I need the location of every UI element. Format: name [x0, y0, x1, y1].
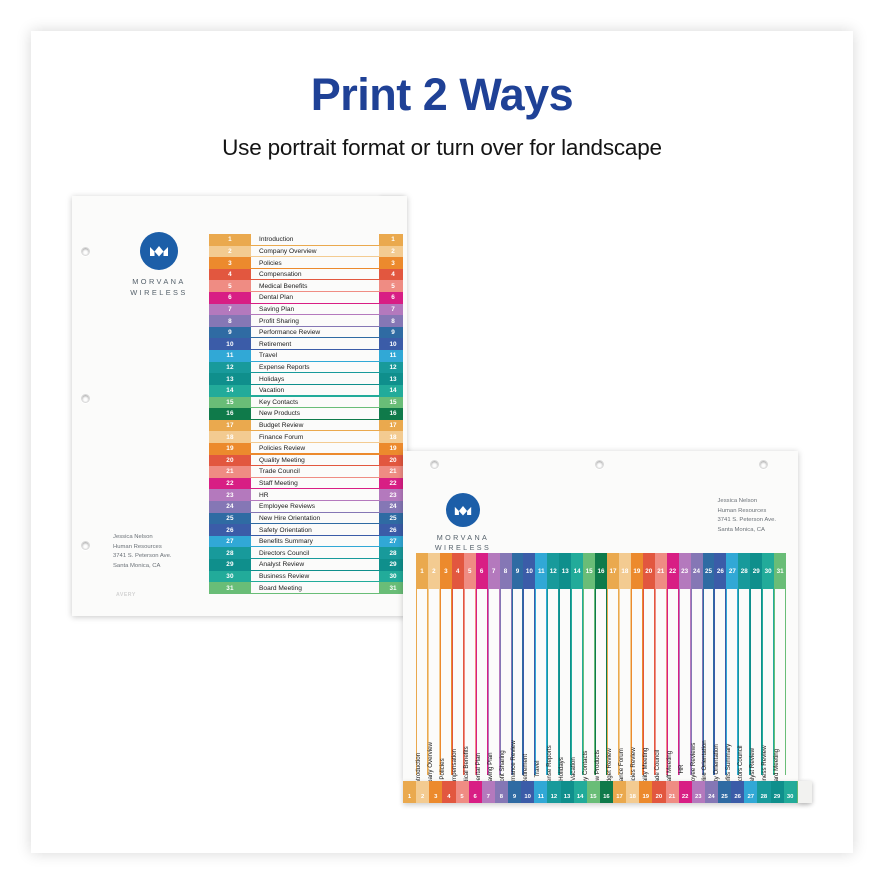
- table-row: 9Performance Review: [209, 327, 385, 339]
- row-label: Staff Meeting: [251, 478, 385, 490]
- portrait-tab: 23: [379, 489, 403, 501]
- column-body: Medical Benefits: [464, 589, 476, 775]
- column-number: 31: [774, 553, 786, 589]
- column-number: 12: [547, 553, 559, 589]
- column-number: 21: [655, 553, 667, 589]
- landscape-bottom-tab: 19: [639, 781, 652, 803]
- row-number: 13: [209, 373, 251, 385]
- landscape-tab-column: 29Analyst Review: [750, 553, 762, 775]
- column-number: 1: [416, 553, 428, 589]
- landscape-tab-column: 14Vacation: [571, 553, 583, 775]
- portrait-tab: 19: [379, 443, 403, 455]
- row-label: Quality Meeting: [251, 455, 385, 467]
- column-number: 9: [512, 553, 524, 589]
- landscape-bottom-tab: 11: [534, 781, 547, 803]
- row-number: 5: [209, 280, 251, 292]
- table-row: 17Budget Review: [209, 420, 385, 432]
- table-row: 20Quality Meeting: [209, 455, 385, 467]
- column-number: 7: [488, 553, 500, 589]
- row-number: 19: [209, 443, 251, 455]
- table-row: 6Dental Plan: [209, 292, 385, 304]
- row-label: Dental Plan: [251, 292, 385, 304]
- landscape-tab-column: 26Safety Orientation: [714, 553, 726, 775]
- row-number: 24: [209, 501, 251, 513]
- column-body: Performance Review: [512, 589, 524, 775]
- column-body: Key Contacts: [583, 589, 595, 775]
- table-row: 16New Products: [209, 408, 385, 420]
- landscape-bottom-tab: 23: [692, 781, 705, 803]
- landscape-tab-column: 5Medical Benefits: [464, 553, 476, 775]
- row-number: 25: [209, 513, 251, 525]
- portrait-tab: 26: [379, 524, 403, 536]
- column-number: 19: [631, 553, 643, 589]
- landscape-tab-column: 2Company Overview: [428, 553, 440, 775]
- portrait-tab: 11: [379, 350, 403, 362]
- brand-name-line2: WIRELESS: [435, 543, 491, 552]
- row-label: Employee Reviews: [251, 501, 385, 513]
- portrait-tab: 18: [379, 431, 403, 443]
- table-row: 23HR: [209, 489, 385, 501]
- row-label: Key Contacts: [251, 397, 385, 409]
- landscape-bottom-tab: 7: [482, 781, 495, 803]
- portrait-tab: 9: [379, 327, 403, 339]
- landscape-bottom-tab: 24: [705, 781, 718, 803]
- landscape-bottom-tab: 13: [561, 781, 574, 803]
- row-number: 29: [209, 559, 251, 571]
- table-row: 27Benefits Summary: [209, 536, 385, 548]
- row-label: Benefits Summary: [251, 536, 385, 548]
- landscape-bottom-tab: 1: [403, 781, 416, 803]
- column-label: Holidays: [558, 757, 565, 781]
- portrait-tab: 20: [379, 455, 403, 467]
- column-number: 25: [703, 553, 715, 589]
- row-number: 10: [209, 338, 251, 350]
- row-number: 9: [209, 327, 251, 339]
- row-label: Vacation: [251, 385, 385, 397]
- row-number: 12: [209, 362, 251, 374]
- row-label: Budget Review: [251, 420, 385, 432]
- portrait-address-block: Jessica Nelson Human Resources 3741 S. P…: [113, 533, 172, 571]
- landscape-bottom-tab: 18: [626, 781, 639, 803]
- row-label: Business Review: [251, 571, 385, 583]
- brand-name-line2: WIRELESS: [130, 288, 187, 297]
- landscape-tab-column: 3Policies: [440, 553, 452, 775]
- landscape-tab-column: 7Saving Plan: [488, 553, 500, 775]
- landscape-tab-column: 10Retirement: [523, 553, 535, 775]
- table-row: 30Business Review: [209, 571, 385, 583]
- column-number: 23: [679, 553, 691, 589]
- landscape-tab-column: 21Trade Council: [655, 553, 667, 775]
- column-number: 4: [452, 553, 464, 589]
- row-label: Saving Plan: [251, 304, 385, 316]
- portrait-tab: 5: [379, 280, 403, 292]
- table-row: 15Key Contacts: [209, 397, 385, 409]
- table-row: 19Policies Review: [209, 443, 385, 455]
- row-label: Company Overview: [251, 246, 385, 258]
- landscape-tab-column: 19Policies Review: [631, 553, 643, 775]
- row-label: Trade Council: [251, 466, 385, 478]
- row-number: 11: [209, 350, 251, 362]
- punch-hole: [430, 460, 439, 469]
- portrait-tab: 25: [379, 513, 403, 525]
- row-label: Travel: [251, 350, 385, 362]
- landscape-tab-strip-corner: [798, 781, 812, 803]
- landscape-bottom-tab: 15: [587, 781, 600, 803]
- brand-name: MORVANA WIRELESS: [425, 533, 501, 554]
- column-number: 29: [750, 553, 762, 589]
- landscape-tab-columns: 1Introduction2Company Overview3Policies4…: [416, 553, 786, 775]
- table-row: 13Holidays: [209, 373, 385, 385]
- landscape-tab-column: 22Staff Meeting: [667, 553, 679, 775]
- column-body: HR: [679, 589, 691, 775]
- portrait-tab: 22: [379, 478, 403, 490]
- row-label: Directors Council: [251, 547, 385, 559]
- row-label: Performance Review: [251, 327, 385, 339]
- column-number: 15: [583, 553, 595, 589]
- punch-hole: [81, 541, 90, 550]
- landscape-tab-column: 27Benefits Summary: [726, 553, 738, 775]
- landscape-tab-column: 17Budget Review: [607, 553, 619, 775]
- landscape-tab-column: 31Board Meeting: [774, 553, 786, 775]
- landscape-bottom-tab: 21: [666, 781, 679, 803]
- row-number: 18: [209, 431, 251, 443]
- row-number: 1: [209, 234, 251, 246]
- column-body: Retirement: [523, 589, 535, 775]
- portrait-table-of-contents: 1Introduction2Company Overview3Policies4…: [209, 234, 385, 594]
- table-row: 26Safety Orientation: [209, 524, 385, 536]
- address-line-department: Human Resources: [717, 507, 776, 517]
- portrait-tab-strip: 1234567891011121314151617181920212223242…: [379, 234, 403, 594]
- table-row: 8Profit Sharing: [209, 315, 385, 327]
- row-label: Profit Sharing: [251, 315, 385, 327]
- portrait-tab: 17: [379, 420, 403, 432]
- column-number: 14: [571, 553, 583, 589]
- landscape-brand-logo: MORVANA WIRELESS: [425, 493, 501, 554]
- landscape-bottom-tab: 17: [613, 781, 626, 803]
- landscape-bottom-tab: 28: [757, 781, 770, 803]
- column-body: Board Meeting: [774, 589, 786, 775]
- row-number: 27: [209, 536, 251, 548]
- column-body: Compensation: [452, 589, 464, 775]
- column-body: Quality Meeting: [643, 589, 655, 775]
- landscape-bottom-tab: 8: [495, 781, 508, 803]
- column-body: Expense Reports: [547, 589, 559, 775]
- row-number: 21: [209, 466, 251, 478]
- portrait-tab: 14: [379, 385, 403, 397]
- table-row: 1Introduction: [209, 234, 385, 246]
- landscape-bottom-tab: 12: [547, 781, 560, 803]
- landscape-bottom-tab: 20: [652, 781, 665, 803]
- landscape-bottom-tab: 5: [456, 781, 469, 803]
- column-label: Travel: [534, 761, 541, 778]
- table-row: 14Vacation: [209, 385, 385, 397]
- address-line-city: Santa Monica, CA: [717, 526, 776, 536]
- portrait-tab: 12: [379, 362, 403, 374]
- row-label: Holidays: [251, 373, 385, 385]
- row-number: 6: [209, 292, 251, 304]
- landscape-tab-column: 9Performance Review: [512, 553, 524, 775]
- row-label: New Products: [251, 408, 385, 420]
- address-line-street: 3741 S. Peterson Ave.: [717, 516, 776, 526]
- portrait-tab: 13: [379, 373, 403, 385]
- landscape-tab-column: 12Expense Reports: [547, 553, 559, 775]
- table-row: 28Directors Council: [209, 547, 385, 559]
- column-number: 18: [619, 553, 631, 589]
- morvana-diamond-logo-icon: [140, 232, 178, 270]
- column-body: Saving Plan: [488, 589, 500, 775]
- row-label: Analyst Review: [251, 559, 385, 571]
- landscape-bottom-tab: 16: [600, 781, 613, 803]
- portrait-tab: 2: [379, 246, 403, 258]
- column-body: Vacation: [571, 589, 583, 775]
- landscape-bottom-tab-strip: 1234567891011121314151617181920212223242…: [403, 781, 810, 803]
- row-number: 26: [209, 524, 251, 536]
- table-row: 5Medical Benefits: [209, 280, 385, 292]
- table-row: 24Employee Reviews: [209, 501, 385, 513]
- punch-hole: [81, 247, 90, 256]
- column-body: Policies: [440, 589, 452, 775]
- row-number: 15: [209, 397, 251, 409]
- column-body: Business Review: [762, 589, 774, 775]
- landscape-bottom-tab: 30: [784, 781, 797, 803]
- table-row: 29Analyst Review: [209, 559, 385, 571]
- column-number: 24: [691, 553, 703, 589]
- column-number: 27: [726, 553, 738, 589]
- column-label: Retirement: [522, 754, 529, 784]
- row-label: Expense Reports: [251, 362, 385, 374]
- landscape-bottom-tab: 9: [508, 781, 521, 803]
- landscape-tab-column: 25New Hire Orientation: [703, 553, 715, 775]
- landscape-bottom-tab: 29: [771, 781, 784, 803]
- punch-hole: [759, 460, 768, 469]
- row-label: Introduction: [251, 234, 385, 246]
- row-number: 16: [209, 408, 251, 420]
- column-body: Company Overview: [428, 589, 440, 775]
- portrait-tab: 7: [379, 304, 403, 316]
- portrait-brand-logo: MORVANA WIRELESS: [120, 232, 198, 298]
- landscape-address-block: Jessica Nelson Human Resources 3741 S. P…: [717, 497, 776, 535]
- portrait-tab: 10: [379, 338, 403, 350]
- column-number: 5: [464, 553, 476, 589]
- row-number: 7: [209, 304, 251, 316]
- row-number: 8: [209, 315, 251, 327]
- table-row: 25New Hire Orientation: [209, 513, 385, 525]
- row-number: 4: [209, 269, 251, 281]
- landscape-bottom-tab: 4: [442, 781, 455, 803]
- table-row: 22Staff Meeting: [209, 478, 385, 490]
- landscape-tab-column: 20Quality Meeting: [643, 553, 655, 775]
- address-line-name: Jessica Nelson: [717, 497, 776, 507]
- page-subtitle: Use portrait format or turn over for lan…: [31, 135, 853, 161]
- column-number: 20: [643, 553, 655, 589]
- row-label: Safety Orientation: [251, 524, 385, 536]
- column-number: 11: [535, 553, 547, 589]
- landscape-tab-column: 4Compensation: [452, 553, 464, 775]
- table-row: 21Trade Council: [209, 466, 385, 478]
- column-number: 30: [762, 553, 774, 589]
- column-label: Policies: [439, 758, 446, 779]
- table-row: 18Finance Forum: [209, 431, 385, 443]
- row-label: Compensation: [251, 269, 385, 281]
- landscape-tab-column: 23HR: [679, 553, 691, 775]
- column-number: 2: [428, 553, 440, 589]
- table-row: 11Travel: [209, 350, 385, 362]
- column-number: 28: [738, 553, 750, 589]
- column-number: 10: [523, 553, 535, 589]
- column-number: 3: [440, 553, 452, 589]
- column-number: 22: [667, 553, 679, 589]
- column-body: Dental Plan: [476, 589, 488, 775]
- portrait-tab: 28: [379, 547, 403, 559]
- screenshot-canvas: Print 2 Ways Use portrait format or turn…: [0, 0, 884, 884]
- address-line-street: 3741 S. Peterson Ave.: [113, 552, 172, 562]
- portrait-tab: 24: [379, 501, 403, 513]
- table-row: 12Expense Reports: [209, 362, 385, 374]
- landscape-divider-sheet: MORVANA WIRELESS Jessica Nelson Human Re…: [403, 451, 798, 781]
- product-image-card: Print 2 Ways Use portrait format or turn…: [31, 31, 853, 853]
- row-number: 28: [209, 547, 251, 559]
- table-row: 2Company Overview: [209, 246, 385, 258]
- portrait-tab: 31: [379, 582, 403, 594]
- headline-block: Print 2 Ways Use portrait format or turn…: [31, 71, 853, 161]
- row-number: 31: [209, 582, 251, 594]
- table-row: 31Board Meeting: [209, 582, 385, 594]
- landscape-bottom-tab: 27: [744, 781, 757, 803]
- address-line-name: Jessica Nelson: [113, 533, 172, 543]
- row-label: Medical Benefits: [251, 280, 385, 292]
- address-line-city: Santa Monica, CA: [113, 562, 172, 572]
- landscape-tab-column: 18Finance Forum: [619, 553, 631, 775]
- address-line-department: Human Resources: [113, 543, 172, 553]
- portrait-tab: 30: [379, 571, 403, 583]
- page-title: Print 2 Ways: [31, 71, 853, 118]
- row-number: 30: [209, 571, 251, 583]
- landscape-bottom-tab: 2: [416, 781, 429, 803]
- landscape-bottom-tab: 22: [679, 781, 692, 803]
- landscape-tab-column: 6Dental Plan: [476, 553, 488, 775]
- table-row: 3Policies: [209, 257, 385, 269]
- row-label: Finance Forum: [251, 431, 385, 443]
- table-row: 7Saving Plan: [209, 304, 385, 316]
- row-label: Retirement: [251, 338, 385, 350]
- portrait-divider-sheet: MORVANA WIRELESS Jessica Nelson Human Re…: [72, 196, 407, 616]
- row-number: 17: [209, 420, 251, 432]
- row-number: 23: [209, 489, 251, 501]
- column-number: 8: [500, 553, 512, 589]
- landscape-bottom-tab: 6: [469, 781, 482, 803]
- row-number: 2: [209, 246, 251, 258]
- landscape-tab-column: 30Business Review: [762, 553, 774, 775]
- column-body: Trade Council: [655, 589, 667, 775]
- landscape-bottom-tab: 10: [521, 781, 534, 803]
- landscape-bottom-tab: 26: [731, 781, 744, 803]
- portrait-tab: 29: [379, 559, 403, 571]
- punch-hole: [81, 394, 90, 403]
- avery-logo: AVERY: [116, 592, 136, 598]
- landscape-tab-column: 11Travel: [535, 553, 547, 775]
- landscape-tab-column: 28Directors Council: [738, 553, 750, 775]
- brand-name: MORVANA WIRELESS: [120, 277, 198, 298]
- portrait-tab: 8: [379, 315, 403, 327]
- row-label: Board Meeting: [251, 582, 385, 594]
- table-row: 10Retirement: [209, 338, 385, 350]
- morvana-diamond-logo-icon: [446, 493, 480, 527]
- row-number: 22: [209, 478, 251, 490]
- row-label: Policies Review: [251, 443, 385, 455]
- column-label: HR: [678, 765, 685, 774]
- row-number: 20: [209, 455, 251, 467]
- column-number: 26: [714, 553, 726, 589]
- brand-name-line1: MORVANA: [132, 277, 186, 286]
- portrait-tab: 3: [379, 257, 403, 269]
- column-number: 16: [595, 553, 607, 589]
- landscape-tab-column: 16New Products: [595, 553, 607, 775]
- row-label: Policies: [251, 257, 385, 269]
- portrait-tab: 6: [379, 292, 403, 304]
- column-body: Budget Review: [607, 589, 619, 775]
- landscape-bottom-tab: 3: [429, 781, 442, 803]
- brand-name-line1: MORVANA: [437, 533, 489, 542]
- landscape-tab-column: 13Holidays: [559, 553, 571, 775]
- row-number: 14: [209, 385, 251, 397]
- column-number: 17: [607, 553, 619, 589]
- portrait-tab: 15: [379, 397, 403, 409]
- portrait-tab: 4: [379, 269, 403, 281]
- row-label: HR: [251, 489, 385, 501]
- punch-hole: [595, 460, 604, 469]
- portrait-tab: 1: [379, 234, 403, 246]
- column-label: Vacation: [570, 757, 577, 781]
- column-body: Staff Meeting: [667, 589, 679, 775]
- portrait-tab: 21: [379, 466, 403, 478]
- landscape-bottom-tab: 25: [718, 781, 731, 803]
- column-number: 13: [559, 553, 571, 589]
- portrait-tab: 27: [379, 536, 403, 548]
- column-body: Holidays: [559, 589, 571, 775]
- landscape-bottom-tab: 14: [574, 781, 587, 803]
- portrait-tab: 16: [379, 408, 403, 420]
- table-row: 4Compensation: [209, 269, 385, 281]
- row-number: 3: [209, 257, 251, 269]
- landscape-tab-column: 15Key Contacts: [583, 553, 595, 775]
- row-label: New Hire Orientation: [251, 513, 385, 525]
- column-number: 6: [476, 553, 488, 589]
